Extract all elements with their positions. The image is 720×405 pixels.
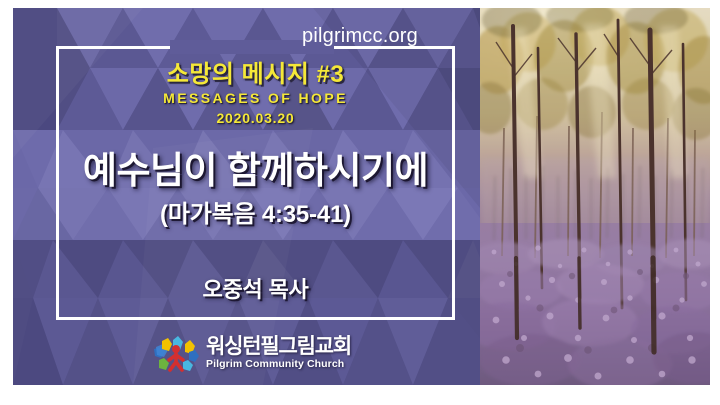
star-people-emblem-icon (152, 334, 200, 372)
series-korean-title: 소망의 메시지 #3 (56, 62, 455, 88)
sermon-title-slide: pilgrimcc.org 소망의 메시지 #3 MESSAGES OF HOP… (0, 0, 720, 405)
forest-photo (480, 8, 710, 385)
church-name-english: Pilgrim Community Church (206, 359, 351, 370)
church-logo[interactable]: 워싱턴필그림교회 Pilgrim Community Church (152, 332, 367, 374)
sermon-title: 예수님이 함께하시기에 (56, 150, 455, 191)
sermon-date: 2020.03.20 (56, 109, 455, 127)
church-name-korean: 워싱턴필그림교회 (206, 336, 351, 357)
scripture-reference: (마가복음 4:35-41) (56, 201, 455, 230)
title-block: 예수님이 함께하시기에 (마가복음 4:35-41) (56, 150, 455, 230)
forest-photo-image (480, 8, 710, 385)
speaker-name: 오중석 목사 (56, 272, 455, 304)
series-english-title: MESSAGES OF HOPE (56, 89, 455, 107)
series-block: 소망의 메시지 #3 MESSAGES OF HOPE 2020.03.20 (56, 62, 455, 127)
logo-wordmark: 워싱턴필그림교회 Pilgrim Community Church (206, 336, 351, 370)
website-url[interactable]: pilgrimcc.org (0, 26, 720, 46)
